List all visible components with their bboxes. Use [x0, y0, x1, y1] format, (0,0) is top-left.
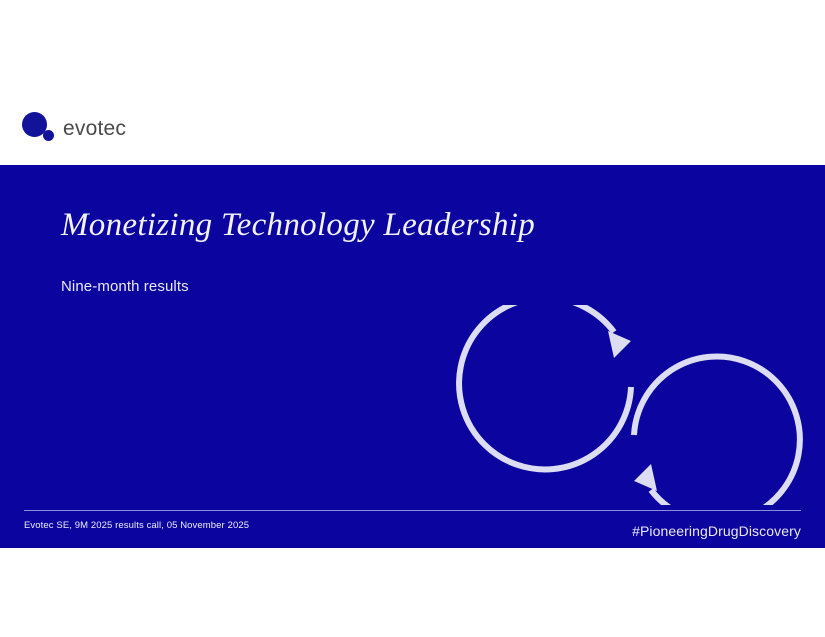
dual-circle-cycle-diagram: Scientific Excellence Operational Excell… [445, 305, 820, 505]
slide-body-panel: Monetizing Technology Leadership Nine-mo… [0, 165, 825, 548]
footer-source-text: Evotec SE, 9M 2025 results call, 05 Nove… [24, 520, 249, 531]
slide-bottom-margin [0, 548, 825, 637]
footer-divider [24, 510, 801, 511]
cycle-diagram-graphic [445, 305, 820, 505]
logo-small-circle-icon [43, 130, 54, 141]
right-circle-arc [634, 357, 800, 505]
arrow-head-up-left-icon [634, 464, 657, 491]
left-circle-arc [459, 305, 631, 469]
evotec-logo-lockup[interactable]: evotec [22, 108, 126, 148]
arrow-head-down-right-icon [608, 331, 631, 358]
page-title: Monetizing Technology Leadership [61, 207, 535, 244]
brand-wordmark: evotec [63, 118, 126, 139]
page-subtitle: Nine-month results [61, 278, 189, 295]
footer-hashtag: #PioneeringDrugDiscovery [632, 523, 801, 539]
slide-root: evotec Monetizing Technology Leadership … [0, 0, 825, 637]
evotec-dots-logo-icon [22, 110, 58, 146]
brand-header-bar: evotec [0, 0, 825, 165]
